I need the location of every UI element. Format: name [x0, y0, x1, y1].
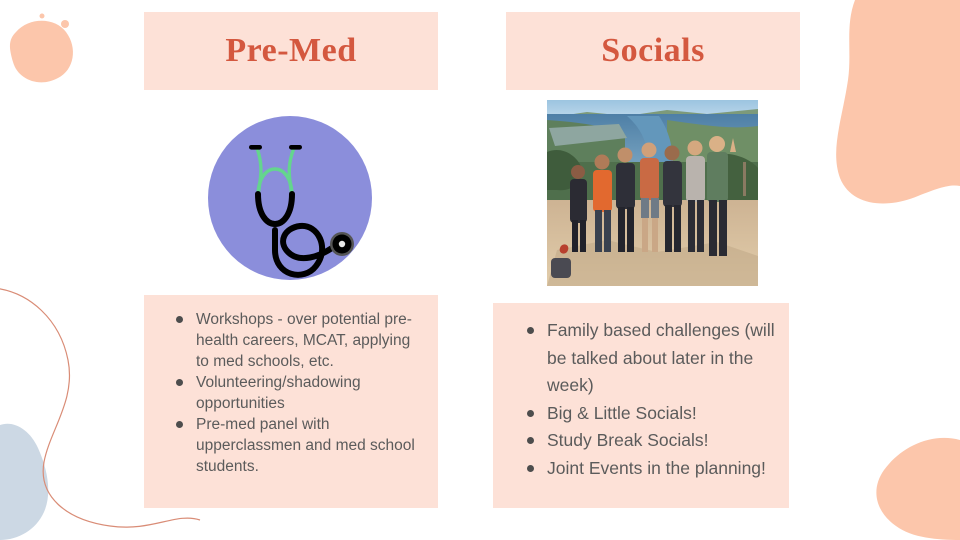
- stethoscope-chestpiece-inner: [339, 241, 345, 247]
- blob-bottom-right: [876, 438, 960, 540]
- list-item: Workshops - over potential pre-health ca…: [158, 309, 426, 372]
- content-box-pre-med: Workshops - over potential pre-health ca…: [144, 295, 438, 508]
- photo-fence-right: [743, 162, 746, 196]
- dot-top-left-c: [21, 69, 27, 75]
- blob-bottom-left: [0, 424, 48, 540]
- list-item-text: Workshops - over potential pre-health ca…: [196, 311, 412, 370]
- bullet-dot-icon: [527, 465, 534, 472]
- blob-top-right: [836, 0, 960, 203]
- bullet-list-socials: Family based challenges (will be talked …: [509, 317, 779, 482]
- list-item-text: Big & Little Socials!: [547, 403, 697, 423]
- column-title-socials: Socials: [601, 34, 705, 68]
- list-item-text: Volunteering/shadowing opportunities: [196, 374, 361, 412]
- dot-top-left-b: [40, 14, 45, 19]
- bullet-list-pre-med: Workshops - over potential pre-health ca…: [158, 309, 426, 477]
- dot-top-left-a: [61, 20, 69, 28]
- list-item-text: Study Break Socials!: [547, 430, 708, 450]
- list-item-text: Joint Events in the planning!: [547, 458, 766, 478]
- dot-top-left-d: [32, 74, 36, 78]
- column-title-box-pre-med: Pre-Med: [144, 12, 438, 90]
- list-item: Study Break Socials!: [509, 427, 779, 455]
- blob-top-left: [10, 21, 73, 83]
- bullet-dot-icon: [176, 379, 183, 386]
- content-box-socials: Family based challenges (will be talked …: [493, 303, 789, 508]
- bullet-dot-icon: [527, 327, 534, 334]
- bullet-dot-icon: [527, 410, 534, 417]
- bullet-dot-icon: [527, 437, 534, 444]
- bullet-dot-icon: [176, 316, 183, 323]
- column-title-pre-med: Pre-Med: [225, 34, 356, 68]
- slide-canvas: Pre-Med Workshops - over potential: [0, 0, 960, 540]
- list-item: Family based challenges (will be talked …: [509, 317, 779, 400]
- bullet-dot-icon: [176, 421, 183, 428]
- list-item: Big & Little Socials!: [509, 400, 779, 428]
- stethoscope-icon: [208, 116, 372, 280]
- list-item-text: Family based challenges (will be talked …: [547, 320, 775, 395]
- list-item: Joint Events in the planning!: [509, 455, 779, 483]
- stethoscope-ear-tip-left: [249, 145, 262, 150]
- list-item-text: Pre-med panel with upperclassmen and med…: [196, 416, 415, 475]
- list-item: Pre-med panel with upperclassmen and med…: [158, 414, 426, 477]
- stethoscope-ear-tip-right: [289, 145, 302, 150]
- group-photo-overlook: [547, 100, 758, 286]
- photo-bag-foreground: [551, 258, 571, 278]
- list-item: Volunteering/shadowing opportunities: [158, 372, 426, 414]
- column-title-box-socials: Socials: [506, 12, 800, 90]
